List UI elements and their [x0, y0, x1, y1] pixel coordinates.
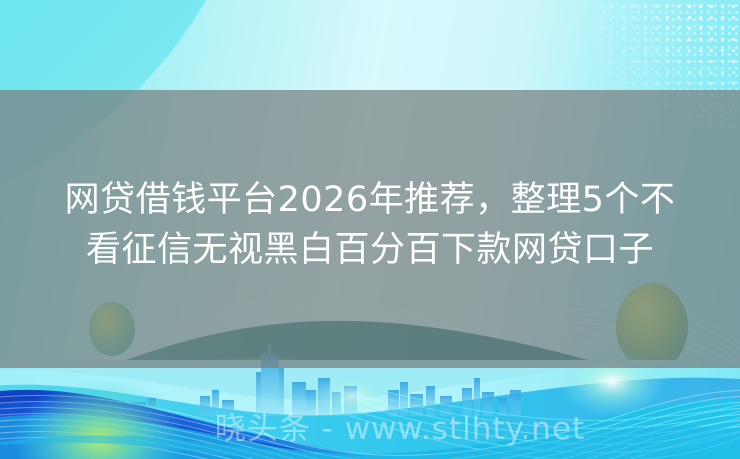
title-line-2: 看征信无视黑白百分百下款网贷口子	[0, 225, 740, 275]
page-title: 网贷借钱平台2026年推荐，整理5个不 看征信无视黑白百分百下款网贷口子	[0, 175, 740, 275]
watermark-text: 晓头条 - www.stlhty.net	[0, 411, 740, 447]
poster-image: 网贷借钱平台2026年推荐，整理5个不 看征信无视黑白百分百下款网贷口子 晓头条…	[0, 0, 740, 459]
title-line-1: 网贷借钱平台2026年推荐，整理5个不	[0, 175, 740, 225]
